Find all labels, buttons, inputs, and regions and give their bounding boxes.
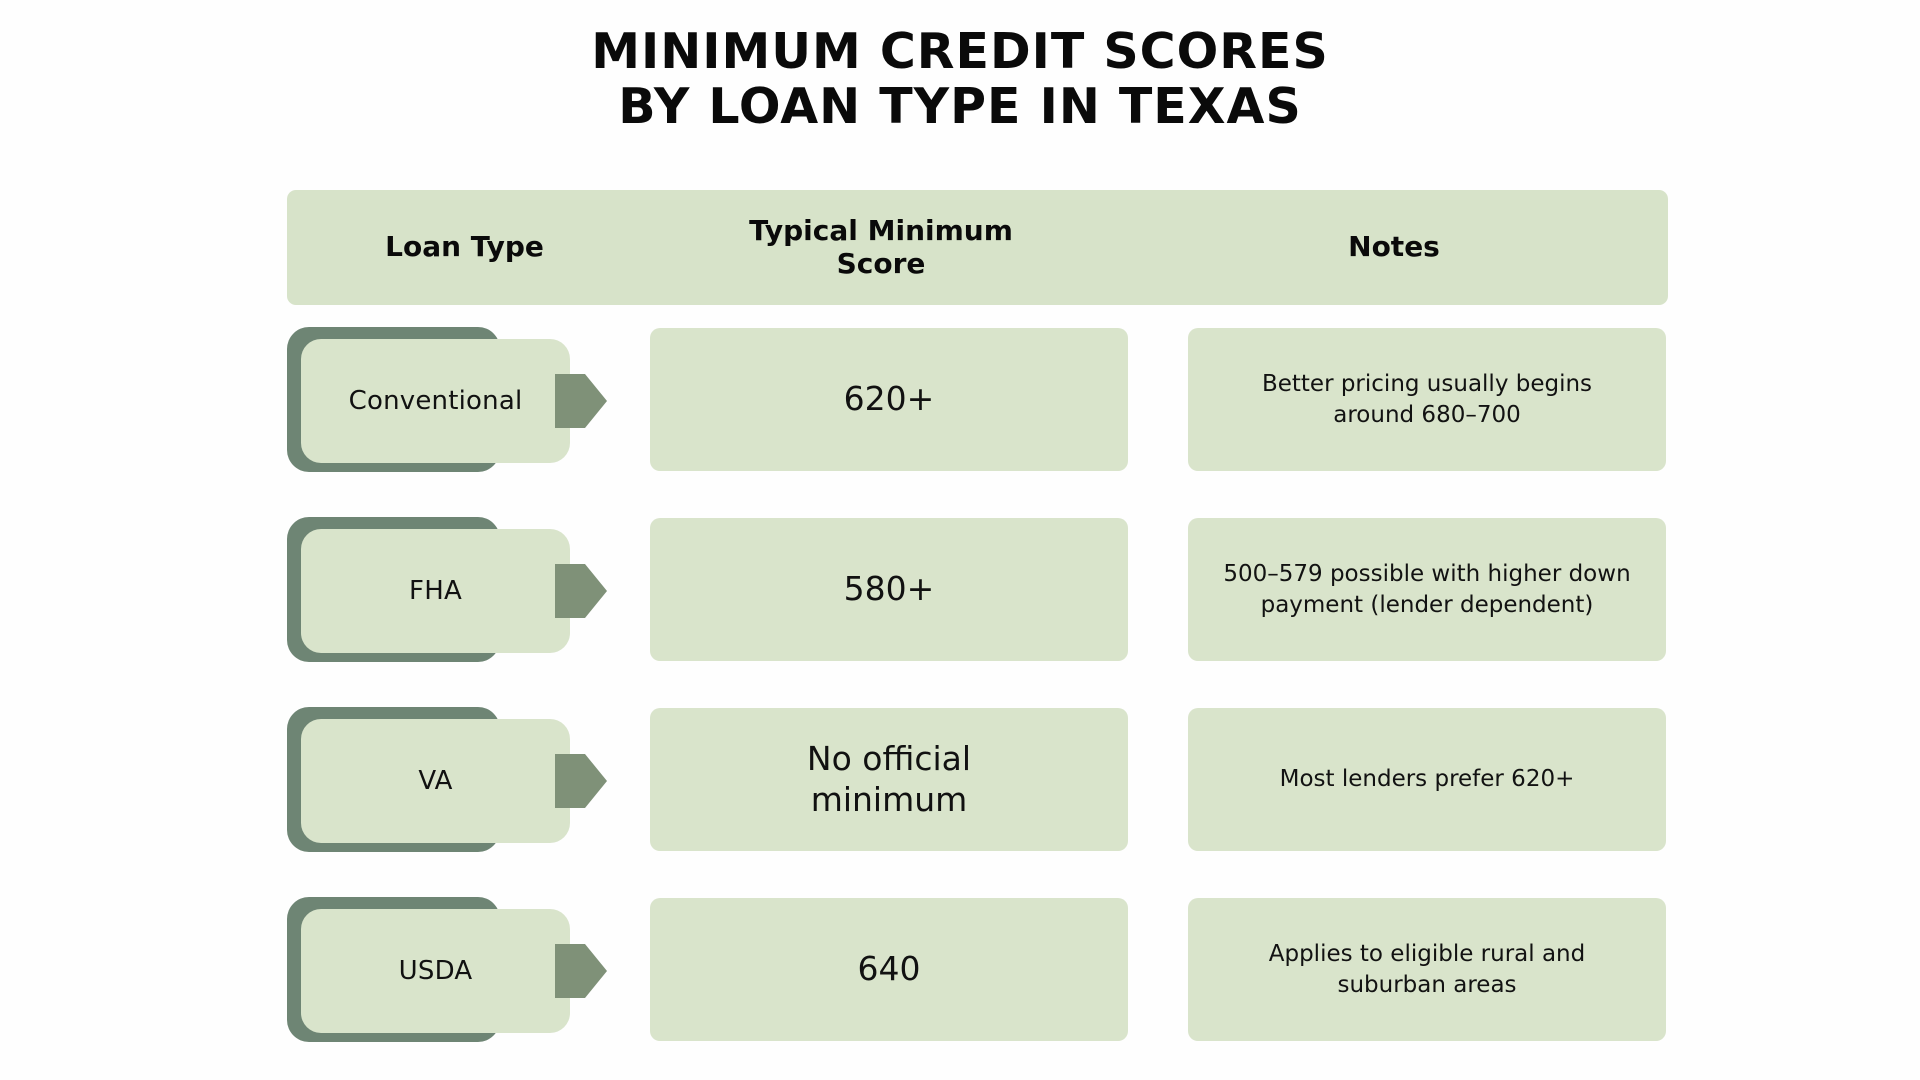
score-value: No official minimum <box>807 739 971 821</box>
pill-face: Conventional <box>301 339 570 463</box>
table-row: FHA 580+ 500–579 possible with higher do… <box>287 517 1668 662</box>
pill-face: VA <box>301 719 570 843</box>
score-value: 640 <box>858 949 921 990</box>
arrow-right-icon <box>555 564 607 618</box>
notes-value: Better pricing usually begins around 680… <box>1262 369 1592 430</box>
notes-cell: Better pricing usually begins around 680… <box>1188 328 1666 471</box>
notes-cell: Applies to eligible rural and suburban a… <box>1188 898 1666 1041</box>
loan-type-pill[interactable]: FHA <box>287 517 642 662</box>
table-header-row: Loan Type Typical Minimum Score Notes <box>287 190 1668 305</box>
table-row: VA No official minimum Most lenders pref… <box>287 707 1668 852</box>
page-title-line-1: Minimum Credit Scores <box>0 24 1920 79</box>
loan-type-label: USDA <box>399 956 473 986</box>
infographic-page: Minimum Credit Scores by Loan Type in Te… <box>0 0 1920 1080</box>
loan-type-label: VA <box>418 766 452 796</box>
table-row: Conventional 620+ Better pricing usually… <box>287 327 1668 472</box>
score-cell: 640 <box>650 898 1128 1041</box>
notes-value: 500–579 possible with higher down paymen… <box>1223 559 1630 620</box>
score-value: 620+ <box>844 379 935 420</box>
arrow-right-icon <box>555 754 607 808</box>
page-title-line-2: by Loan Type in Texas <box>0 79 1920 134</box>
pill-face: USDA <box>301 909 570 1033</box>
loan-type-pill[interactable]: Conventional <box>287 327 642 472</box>
column-header-typical-minimum-score: Typical Minimum Score <box>642 215 1120 280</box>
column-header-loan-type: Loan Type <box>287 231 642 263</box>
column-header-notes: Notes <box>1120 231 1668 263</box>
loan-type-label: Conventional <box>349 386 523 416</box>
pill-face: FHA <box>301 529 570 653</box>
score-cell: 620+ <box>650 328 1128 471</box>
notes-value: Most lenders prefer 620+ <box>1280 764 1575 795</box>
score-cell: No official minimum <box>650 708 1128 851</box>
loan-type-pill[interactable]: VA <box>287 707 642 852</box>
notes-cell: Most lenders prefer 620+ <box>1188 708 1666 851</box>
credit-score-table: Loan Type Typical Minimum Score Notes Co… <box>287 190 1668 1042</box>
arrow-right-icon <box>555 944 607 998</box>
arrow-right-icon <box>555 374 607 428</box>
score-cell: 580+ <box>650 518 1128 661</box>
score-value: 580+ <box>844 569 935 610</box>
loan-type-label: FHA <box>409 576 462 606</box>
page-title: Minimum Credit Scores by Loan Type in Te… <box>0 24 1920 135</box>
notes-value: Applies to eligible rural and suburban a… <box>1269 939 1586 1000</box>
notes-cell: 500–579 possible with higher down paymen… <box>1188 518 1666 661</box>
loan-type-pill[interactable]: USDA <box>287 897 642 1042</box>
table-row: USDA 640 Applies to eligible rural and s… <box>287 897 1668 1042</box>
